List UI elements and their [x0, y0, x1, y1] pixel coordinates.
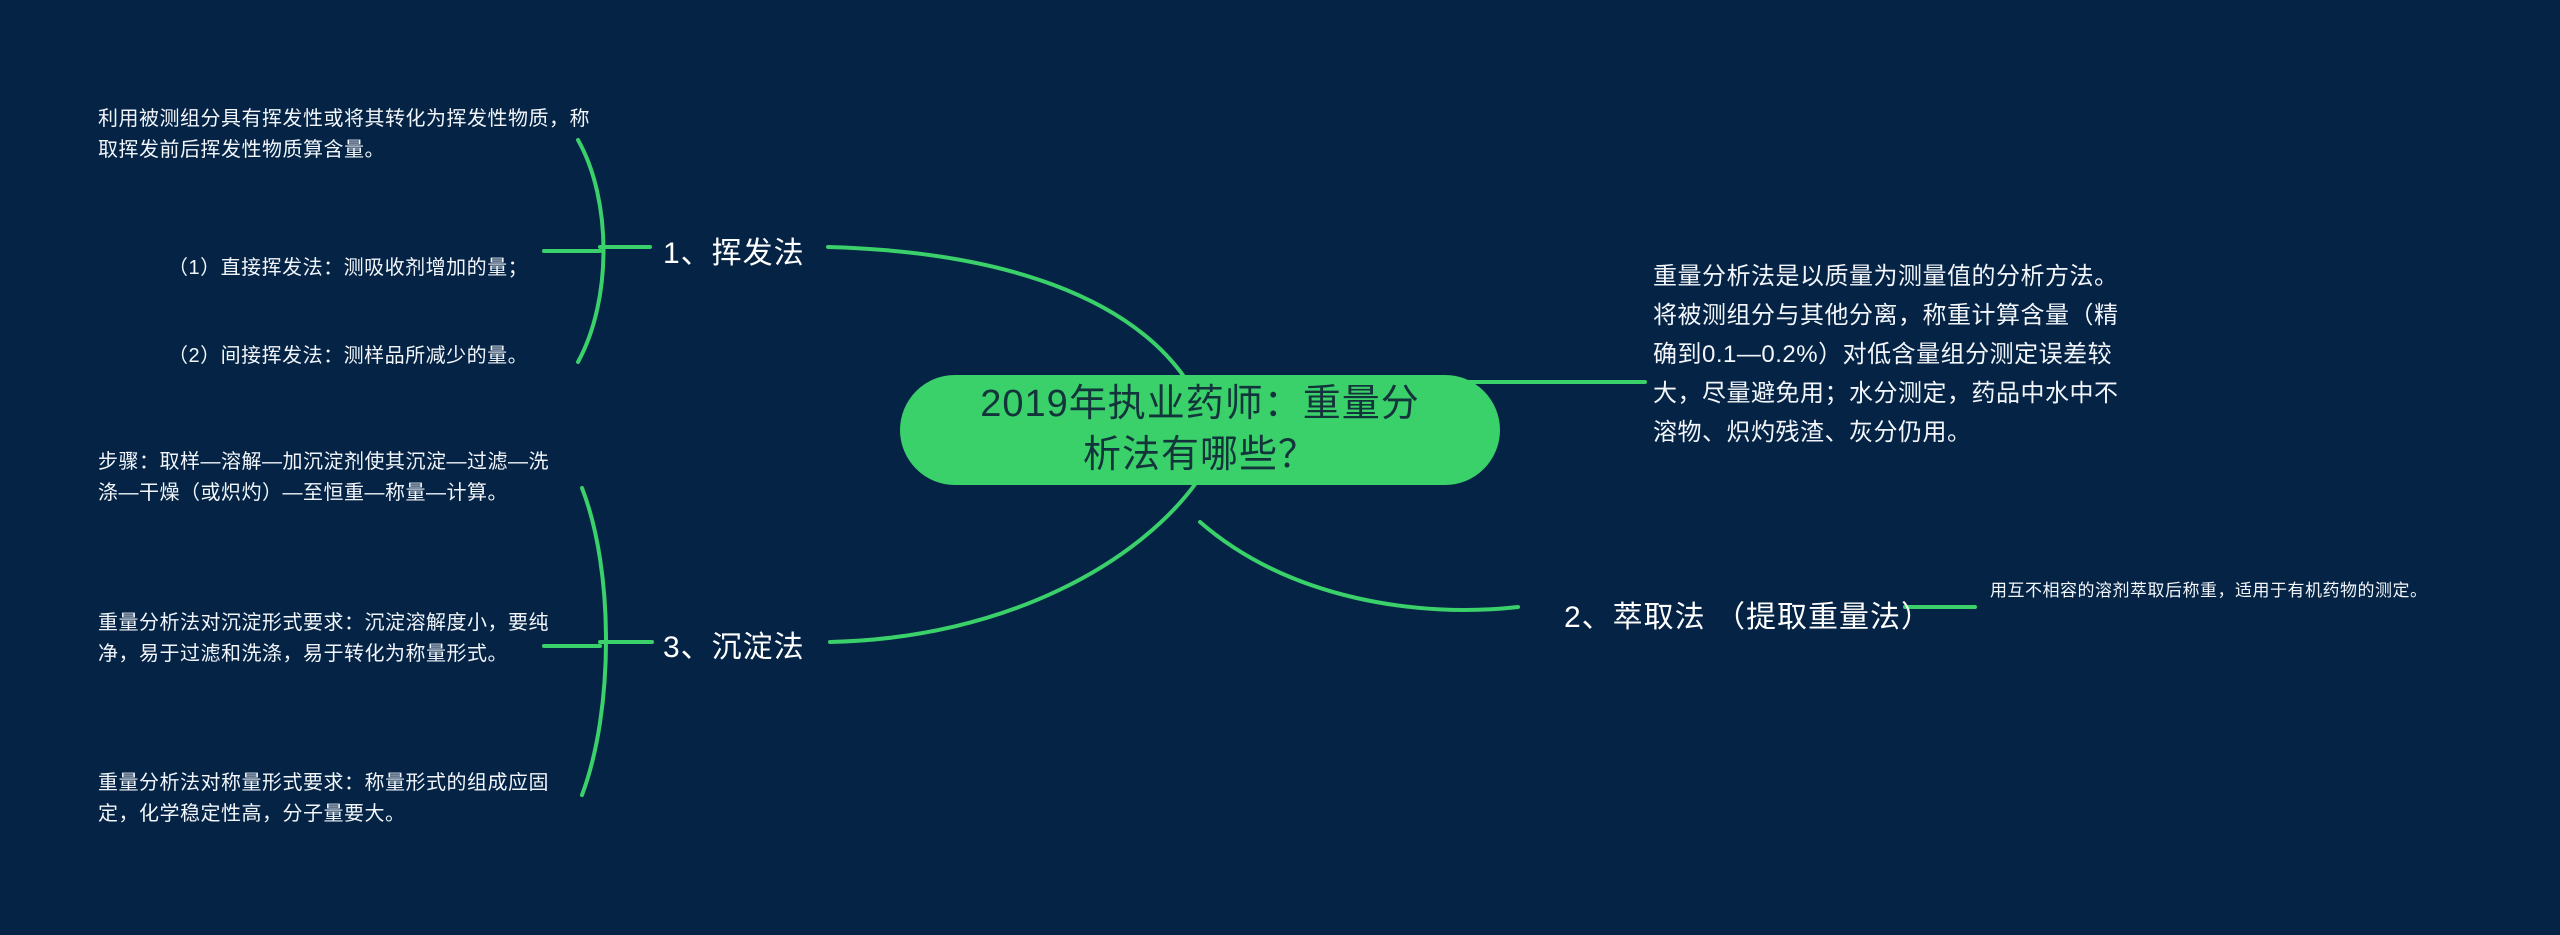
central-node-label: 2019年执业药师：重量分 析法有哪些？ [980, 379, 1420, 482]
leaf-direct-volatilization: （1）直接挥发法：测吸收剂增加的量； [168, 253, 608, 284]
mindmap-canvas: 2019年执业药师：重量分 析法有哪些？ 1、挥发法 3、沉淀法 2、萃取法 （… [0, 0, 2560, 935]
central-node[interactable]: 2019年执业药师：重量分 析法有哪些？ [900, 375, 1500, 485]
edge-precipitation-to-center [830, 483, 1196, 642]
leaf-weighing-form-requirement: 重量分析法对称量形式要求：称量形式的组成应固定，化学稳定性高，分子量要大。 [98, 768, 558, 830]
leaf-precipitation-steps: 步骤：取样—溶解—加沉淀剂使其沉淀—过滤—洗涤—干燥（或炽灼）—至恒重—称量—计… [98, 447, 558, 509]
bracket-volatilization [578, 140, 604, 362]
branch-label-extraction[interactable]: 2、萃取法 （提取重量法） [1564, 592, 1932, 636]
edge-center-to-extraction [1200, 522, 1518, 610]
leaf-extraction-note: 用互不相容的溶剂萃取后称重，适用于有机药物的测定。 [1990, 578, 2460, 604]
leaf-gravimetric-overview: 重量分析法是以质量为测量值的分析方法。将被测组分与其他分离，称重计算含量（精确到… [1653, 258, 2123, 452]
leaf-indirect-volatilization: （2）间接挥发法：测样品所减少的量。 [168, 341, 608, 372]
edge-volatilization-to-center [828, 247, 1185, 378]
branch-label-precipitation[interactable]: 3、沉淀法 [663, 622, 805, 666]
branch-label-volatilization[interactable]: 1、挥发法 [663, 228, 805, 272]
bracket-precipitation [582, 488, 606, 795]
leaf-volatilization-description: 利用被测组分具有挥发性或将其转化为挥发性物质，称取挥发前后挥发性物质算含量。 [98, 104, 608, 166]
leaf-precipitation-form-requirement: 重量分析法对沉淀形式要求：沉淀溶解度小，要纯净，易于过滤和洗涤，易于转化为称量形… [98, 608, 558, 670]
